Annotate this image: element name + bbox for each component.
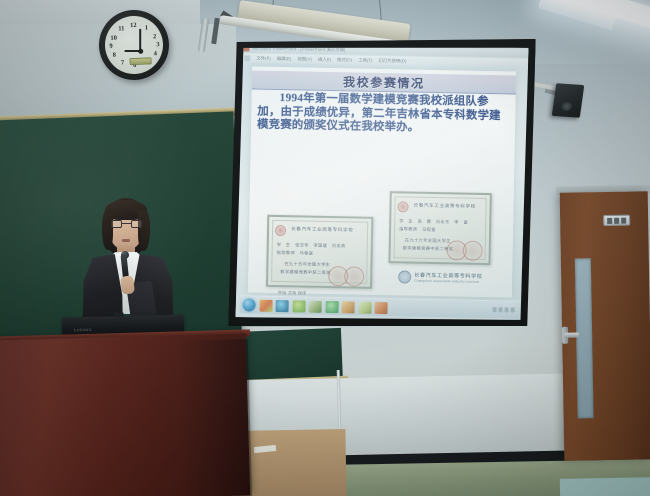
eyeglass-lens-left: [111, 220, 122, 228]
menu-item-tools[interactable]: 工具(T): [358, 57, 373, 63]
clock-numeral: 1: [142, 24, 150, 32]
wall-speaker: [552, 83, 585, 118]
clock-center-pin: [138, 49, 143, 54]
taskbar-item-media-player[interactable]: [276, 299, 289, 311]
taskbar-item-messenger[interactable]: [325, 300, 338, 312]
clock-numeral: 10: [110, 35, 118, 43]
certificate-line: 数学建模竞赛中获二等奖: [403, 245, 454, 252]
powerpoint-doc-icon: [244, 55, 250, 61]
clock-numeral: 8: [110, 52, 118, 60]
certificate-line: 学 生 张志伟 李国盛 刘志高: [277, 242, 346, 249]
taskbar-item-image-viewer[interactable]: [341, 301, 354, 313]
certificate-line: 数学建模竞赛中获二等奖: [280, 269, 331, 276]
clock-numeral: 3: [154, 41, 162, 49]
slide-title-bar: 我校参赛情况: [252, 70, 516, 94]
system-tray[interactable]: [493, 307, 517, 312]
lecture-hall-photo: 12 1 2 3 4 5 6 7 8 9 10 11: [0, 0, 650, 496]
floor-teal-strip: [560, 477, 650, 496]
taskbar-quicklaunch-strip: 开始 文档 程序: [278, 290, 398, 298]
taskbar-item-pdf-reader[interactable]: [374, 301, 387, 313]
classroom-door[interactable]: [560, 191, 650, 460]
powerpoint-slide: 我校参赛情况 1994年第一届数学建模竞赛我校派组队参加，由于成绩优异，第二年吉…: [248, 66, 516, 297]
certificate-line: 在九十五年全国大学生: [284, 261, 330, 268]
certificate-right: 长春汽车工业高等专科学校 学 生 高 霞 白永东 申 富 指导教师 马程富 在九…: [388, 191, 491, 265]
laptop-hinge: [114, 312, 124, 317]
school-logo-name-en: Changchun Automobile Industry Institute: [414, 278, 482, 283]
podium-shadow: [178, 339, 252, 496]
speaker-cone-icon: [561, 102, 573, 112]
laptop-brand-label: Lenovo: [74, 327, 92, 332]
taskbar-item-powerpoint-doc[interactable]: [308, 300, 321, 312]
presenter-eyeglasses: [111, 220, 142, 228]
menu-item-view[interactable]: 视图(V): [297, 56, 312, 62]
school-logo-mark-icon: [398, 270, 411, 283]
presenter-hand: [120, 275, 135, 294]
projection-screen-surface: Microsoft PowerPoint - [PowerPoint 演示文稿]…: [235, 42, 528, 322]
taskbar-item-document[interactable]: [358, 301, 371, 313]
clock-numeral: 9: [107, 43, 115, 51]
presenter-hair-left: [102, 210, 113, 250]
tray-icon: [493, 307, 497, 312]
clock-minute-hand: [140, 29, 142, 51]
menu-item-file[interactable]: 文件(F): [256, 55, 271, 61]
certificate-line: 学 生 高 霞 白永东 申 富: [399, 218, 468, 225]
taskbar-item-internet-explorer[interactable]: [259, 299, 272, 311]
certificate-line: 指导教师 马程富: [277, 250, 314, 257]
eyeglass-lens-right: [131, 220, 142, 228]
menu-item-edit[interactable]: 编辑(E): [277, 55, 292, 61]
projection-screen: Microsoft PowerPoint - [PowerPoint 演示文稿]…: [228, 33, 536, 332]
floor-wood-strip: [235, 429, 346, 496]
menu-item-insert[interactable]: 插入(I): [318, 56, 331, 62]
door-glass-panel: [575, 258, 594, 418]
certificate-left: 长春汽车工业高等专科学校 学 生 张志伟 李国盛 刘志高 指导教师 马程富 在九…: [266, 215, 373, 289]
menu-item-slideshow[interactable]: 幻灯片放映(D): [378, 57, 406, 64]
clock-brand-plate: [129, 57, 151, 65]
door-handle[interactable]: [564, 332, 579, 337]
school-logo: 长春汽车工业高等专科学校 Changchun Automobile Indust…: [398, 267, 502, 287]
tray-icon: [499, 307, 503, 312]
clock-numeral: 11: [117, 25, 125, 33]
presenter-hair-right: [138, 210, 150, 251]
door-plate-glyph: [614, 217, 619, 223]
door-room-number-plate: [603, 215, 630, 226]
slide-body-text: 1994年第一届数学建模竞赛我校派组队参加，由于成绩优异，第二年吉林省本专科数学…: [257, 92, 510, 137]
clock-numeral: 4: [151, 50, 159, 58]
start-button[interactable]: [243, 298, 256, 311]
tray-icon: [505, 307, 509, 312]
clock-numeral: 7: [118, 59, 126, 67]
clock-numeral: 12: [129, 22, 137, 30]
presenter-mouth: [122, 239, 130, 242]
door-plate-glyph: [607, 217, 612, 223]
certificate-line: 指导教师 马程富: [399, 226, 436, 233]
certificate-line: 在九十六年全国大学生: [405, 237, 451, 244]
door-plate-glyph: [621, 217, 626, 223]
tray-icon: [511, 307, 515, 312]
windows-taskbar[interactable]: 开始 文档 程序: [239, 295, 519, 318]
slide-title: 我校参赛情况: [343, 73, 425, 92]
eyeglass-bridge: [122, 223, 131, 224]
taskbar-item-folder[interactable]: [292, 300, 305, 312]
clock-face: 12 1 2 3 4 5 6 7 8 9 10 11: [104, 15, 164, 75]
menu-item-format[interactable]: 格式(O): [337, 57, 352, 63]
